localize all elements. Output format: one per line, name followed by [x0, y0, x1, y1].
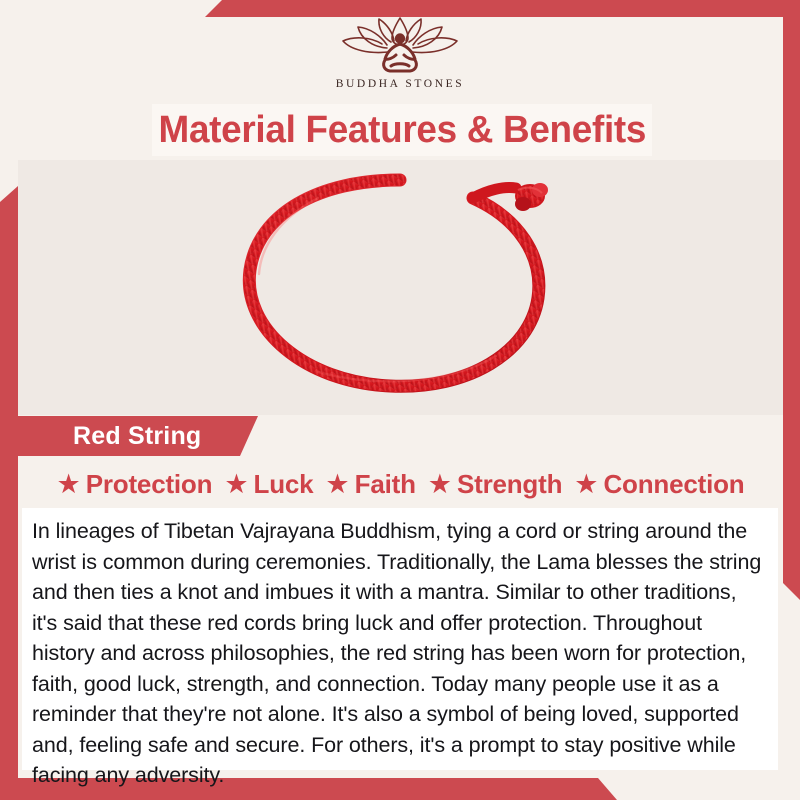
- description-text: In lineages of Tibetan Vajrayana Buddhis…: [32, 516, 766, 791]
- page-title: Material Features & Benefits: [158, 109, 646, 152]
- feature-label: Connection: [603, 469, 744, 500]
- feature-item-connection: ★ Connection: [574, 469, 744, 500]
- feature-item-strength: ★ Strength: [428, 469, 563, 500]
- star-icon: ★: [57, 471, 81, 498]
- star-icon: ★: [428, 471, 452, 498]
- brand-logo: BUDDHA STONES: [0, 14, 800, 90]
- star-icon: ★: [325, 471, 349, 498]
- star-icon: ★: [224, 471, 248, 498]
- feature-label: Faith: [355, 469, 416, 500]
- material-name: Red String: [73, 422, 201, 451]
- star-icon: ★: [574, 471, 598, 498]
- product-image: [18, 160, 783, 415]
- feature-label: Protection: [86, 469, 213, 500]
- feature-label: Strength: [457, 469, 562, 500]
- feature-item-luck: ★ Luck: [224, 469, 313, 500]
- frame-right-bar: [783, 0, 800, 600]
- lotus-meditation-icon: [325, 14, 475, 76]
- feature-item-protection: ★ Protection: [57, 469, 213, 500]
- frame-left-bar: [0, 186, 18, 778]
- page-title-band: Material Features & Benefits: [152, 104, 652, 156]
- feature-label: Luck: [254, 469, 314, 500]
- feature-list: ★ Protection ★ Luck ★ Faith ★ Strength ★…: [18, 464, 783, 504]
- feature-item-faith: ★ Faith: [325, 469, 415, 500]
- brand-name: BUDDHA STONES: [0, 78, 800, 90]
- material-ribbon-label: Red String: [18, 416, 258, 456]
- description-card: In lineages of Tibetan Vajrayana Buddhis…: [22, 508, 778, 770]
- infographic-poster: BUDDHA STONES Material Features & Benefi…: [0, 0, 800, 800]
- red-string-bracelet-illustration: [18, 160, 783, 415]
